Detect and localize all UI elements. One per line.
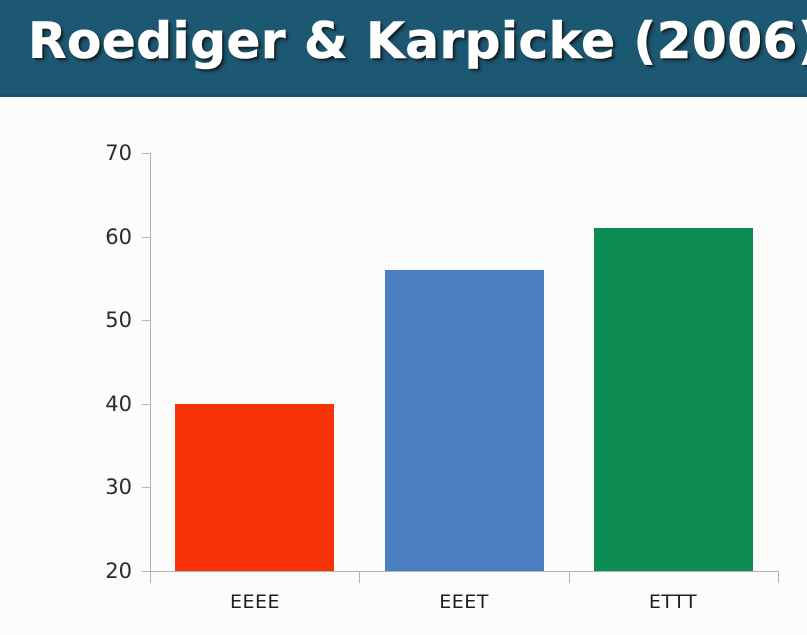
x-axis-category-label: ETTT <box>593 591 753 613</box>
x-axis-tick <box>778 572 779 583</box>
page-title: Roediger & Karpicke (2006) <box>28 12 807 70</box>
x-axis-category-label: EEET <box>384 591 544 613</box>
plot-region <box>150 153 778 571</box>
x-axis-line <box>150 571 779 572</box>
bar-eeet <box>385 270 544 571</box>
bar-eeee <box>175 404 334 571</box>
x-axis-category-label: EEEE <box>175 591 335 613</box>
y-axis-tick-label: 30 <box>88 476 132 498</box>
y-axis-tick-label-text: 50 <box>88 309 132 331</box>
x-axis-tick <box>569 572 570 583</box>
y-axis-tick-label: 50 <box>88 309 132 331</box>
y-axis-tick-label: 40 <box>88 393 132 415</box>
y-axis-tick-label: 20 <box>88 560 132 582</box>
x-axis-tick <box>359 572 360 583</box>
y-axis-tick-label: 70 <box>88 142 132 164</box>
y-axis-tick-label-text: 30 <box>88 476 132 498</box>
bar-ettt <box>594 228 753 571</box>
y-axis-tick-label-text: 20 <box>88 560 132 582</box>
y-axis-tick-label-text: 40 <box>88 393 132 415</box>
x-axis-tick <box>150 572 151 583</box>
bar-chart: 706050403020 EEEEEEETETTT <box>0 97 807 635</box>
y-axis-tick-label-text: 60 <box>88 226 132 248</box>
slide: Roediger & Karpicke (2006) 706050403020 … <box>0 0 807 635</box>
y-axis-tick-label: 60 <box>88 226 132 248</box>
y-axis-tick-label-text: 70 <box>88 142 132 164</box>
slide-header: Roediger & Karpicke (2006) <box>0 0 807 97</box>
